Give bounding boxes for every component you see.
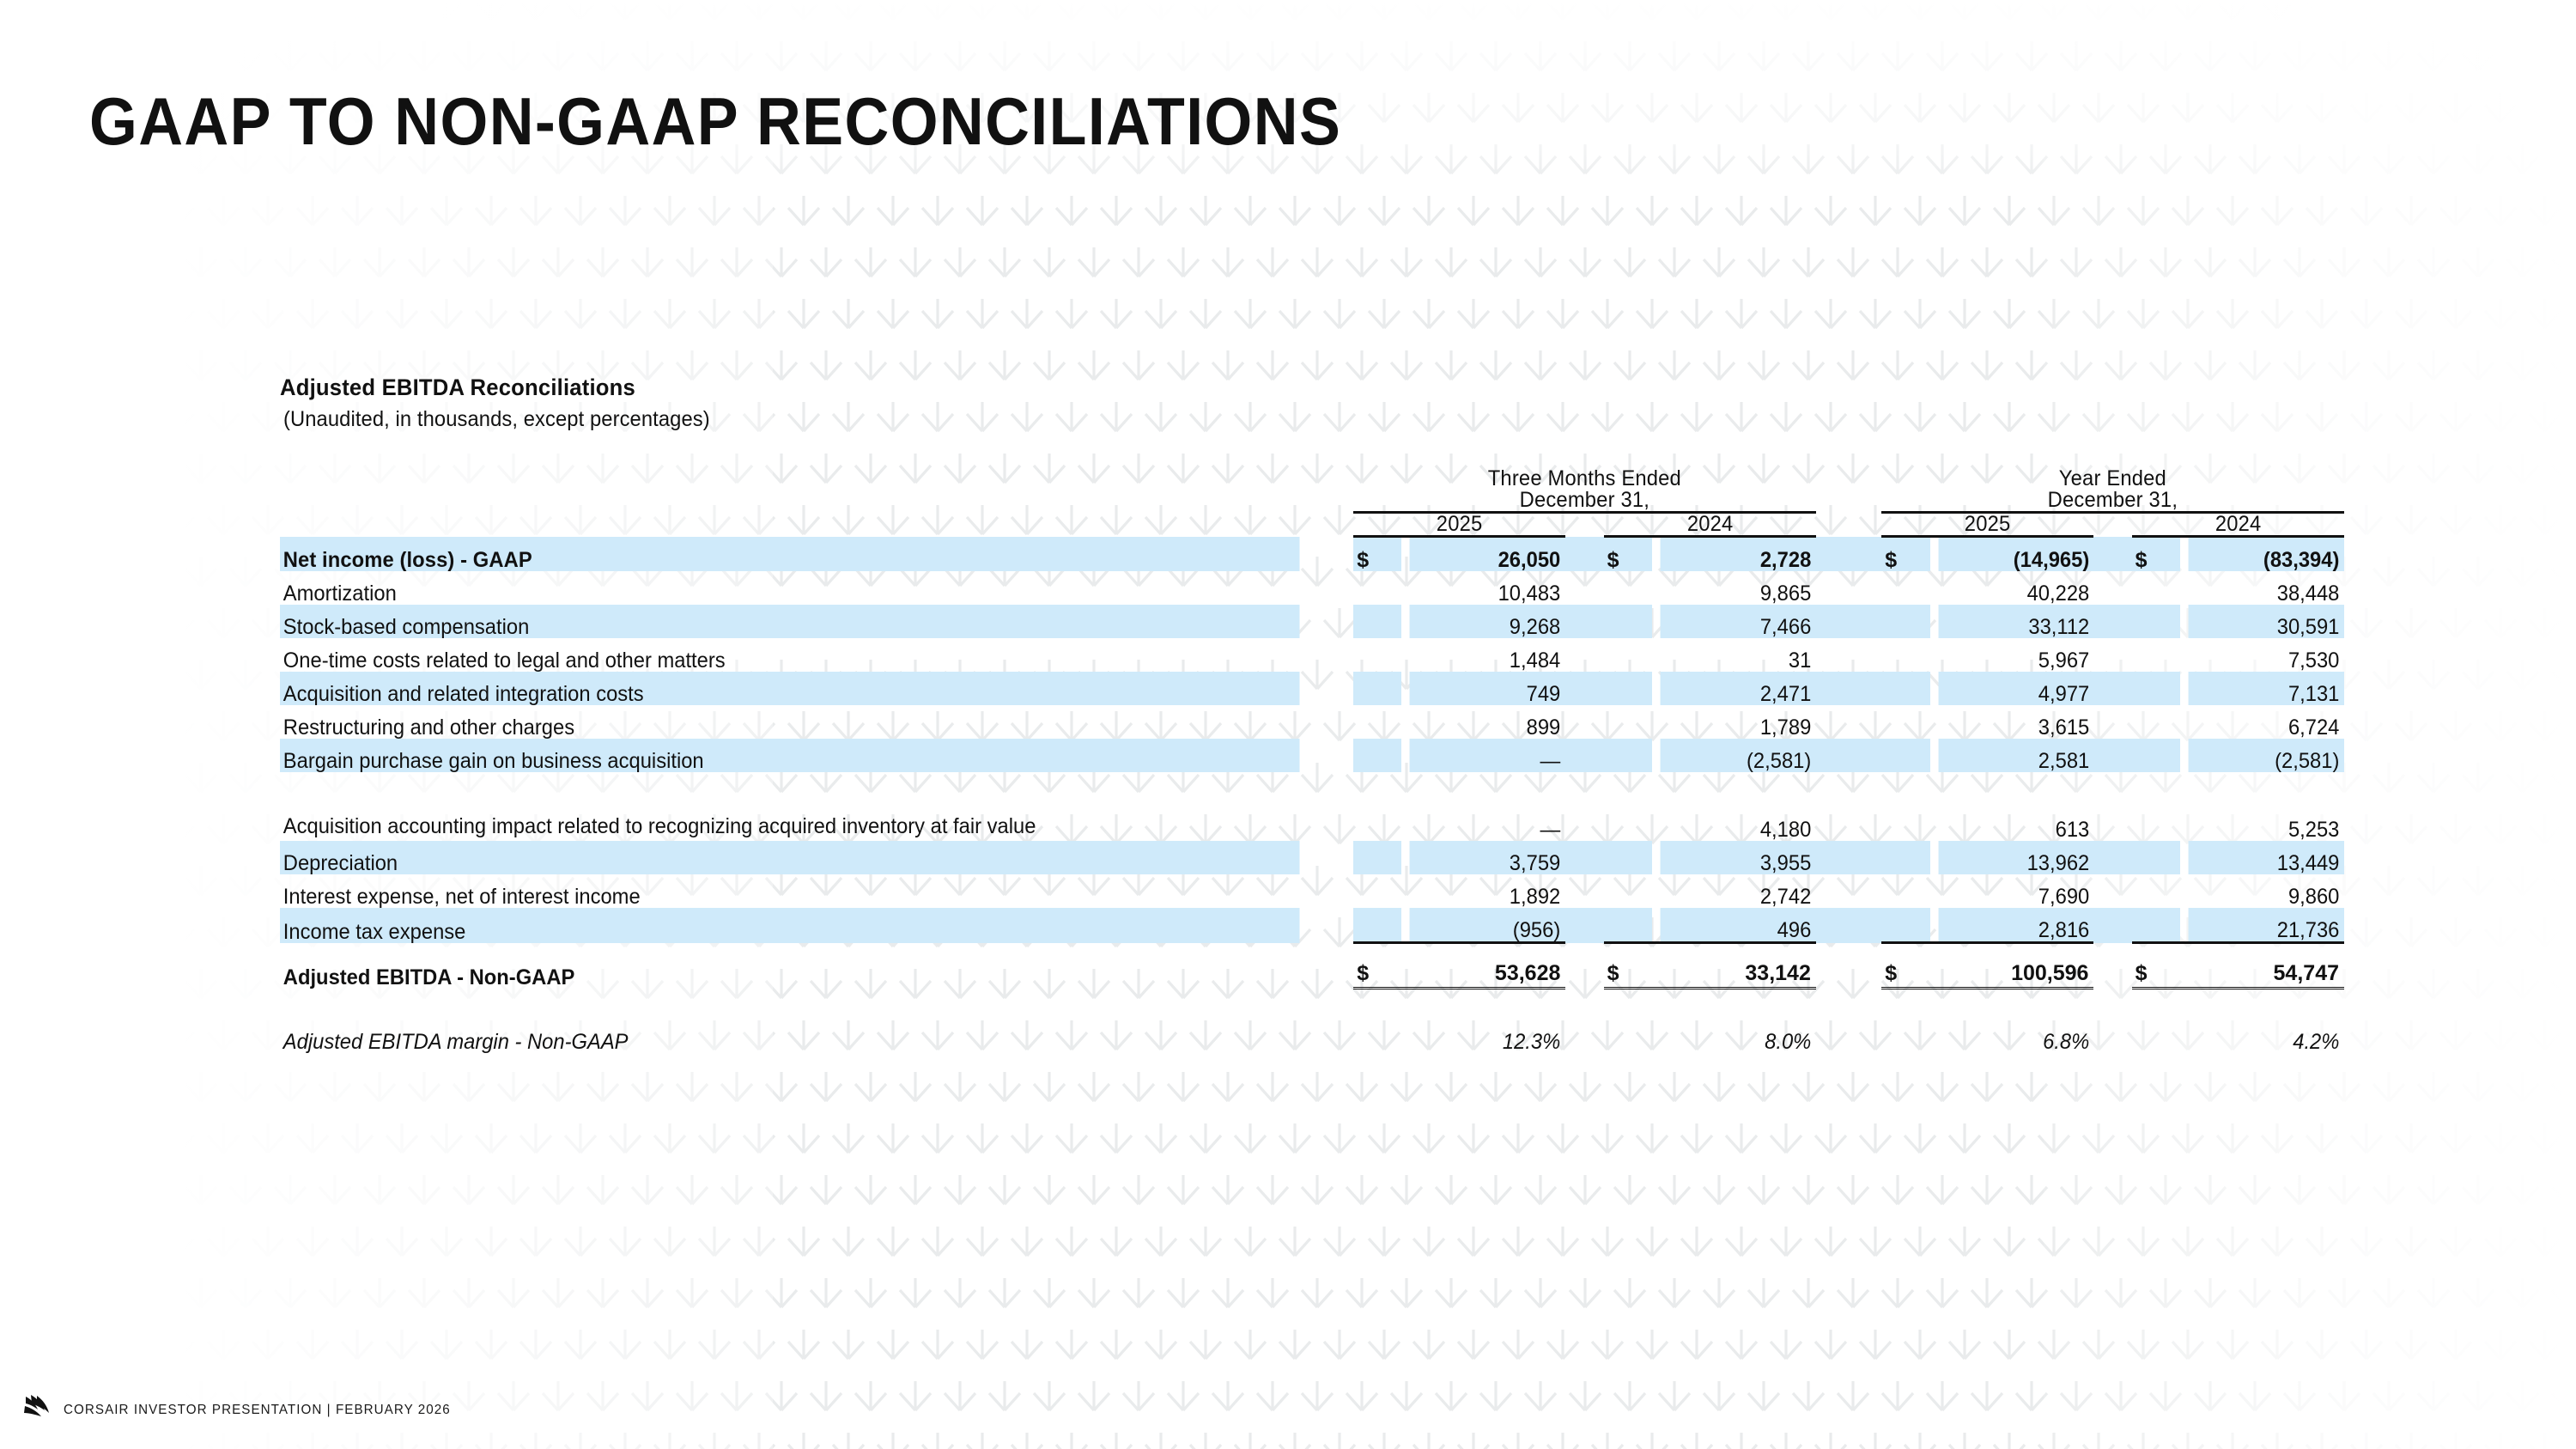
column-gap [2093, 537, 2131, 572]
col-header-q-2024: 2024 [1609, 513, 1811, 537]
table-cell-value: 33,112 [1938, 605, 2093, 638]
table-cell-value: 54,747 [2180, 943, 2344, 989]
table-row: Net income (loss) - GAAP$26,050$2,728$(1… [280, 537, 2344, 572]
column-gap [1565, 571, 1603, 605]
currency-symbol [1353, 772, 1401, 841]
currency-symbol [1604, 638, 1652, 672]
table-cell-value: 30,591 [2188, 605, 2344, 638]
table-cell-value: 749 [1410, 672, 1565, 705]
adjusted-ebitda-table: Three Months Ended Year Ended December 3… [280, 468, 2344, 1053]
table-cell-value: 6.8% [1938, 1019, 2093, 1053]
table-cell-value: 2,816 [1938, 908, 2093, 943]
currency-symbol [1881, 672, 1929, 705]
column-gap [1565, 1019, 1603, 1053]
currency-symbol: $ [2132, 943, 2180, 989]
table-cell-value: 26,050 [1410, 537, 1565, 572]
currency-symbol [1353, 672, 1401, 705]
table-cell-value: 7,131 [2188, 672, 2344, 705]
table-cell-value: 7,690 [1938, 874, 2093, 908]
footer-text: CORSAIR INVESTOR PRESENTATION | FEBRUARY… [64, 1403, 451, 1418]
group-header-three-months: Three Months Ended [1365, 468, 1805, 490]
currency-symbol [1604, 1019, 1652, 1053]
column-gap [2093, 772, 2131, 841]
column-gap [1816, 943, 1881, 989]
column-gap [1816, 537, 1881, 572]
column-gap [1565, 943, 1603, 989]
table-cell-value: 2,742 [1660, 874, 1815, 908]
currency-symbol [1604, 841, 1652, 874]
currency-symbol [1353, 638, 1401, 672]
column-gap [2093, 638, 2131, 672]
column-gap [1565, 705, 1603, 739]
currency-symbol [1353, 605, 1401, 638]
page-title: GAAP TO NON-GAAP RECONCILIATIONS [89, 82, 1341, 161]
table-cell-value: 5,967 [1938, 638, 2093, 672]
table-cell-value: 1,789 [1660, 705, 1815, 739]
table-cell-value: 9,865 [1660, 571, 1815, 605]
column-gap [2093, 874, 2131, 908]
column-gap [1565, 638, 1603, 672]
table-cell-value: 38,448 [2188, 571, 2344, 605]
currency-symbol [1604, 908, 1652, 943]
table-cell-value: 10,483 [1410, 571, 1565, 605]
column-gap [2093, 739, 2131, 772]
table-cell-value: — [1410, 772, 1565, 841]
currency-symbol [1353, 841, 1401, 874]
currency-symbol [1604, 705, 1652, 739]
table-cell-value: 13,449 [2188, 841, 2344, 874]
column-gap [1816, 739, 1881, 772]
margin-row-label: Adjusted EBITDA margin - Non-GAAP [280, 1019, 1300, 1053]
table-cell-value: 9,860 [2188, 874, 2344, 908]
col-header-q-2025: 2025 [1358, 513, 1560, 537]
column-gap [2093, 672, 2131, 705]
column-gap [1816, 772, 1881, 841]
group-header-year: Year Ended [1893, 468, 2333, 490]
row-label: Acquisition and related integration cost… [280, 672, 1300, 705]
currency-symbol [1881, 571, 1929, 605]
currency-symbol [2132, 705, 2180, 739]
currency-symbol [2132, 672, 2180, 705]
row-label: Income tax expense [280, 908, 1300, 943]
currency-symbol: $ [1604, 943, 1652, 989]
currency-symbol [1604, 772, 1652, 841]
currency-symbol: $ [1353, 537, 1401, 572]
table-cell-value: 7,530 [2188, 638, 2344, 672]
column-gap [1565, 672, 1603, 705]
table-cell-value: 496 [1660, 908, 1815, 943]
column-gap [1816, 874, 1881, 908]
table-row: Acquisition accounting impact related to… [280, 772, 2344, 841]
column-gap [2093, 908, 2131, 943]
corsair-sails-logo [22, 1395, 52, 1425]
column-gap [1816, 638, 1881, 672]
row-label: Net income (loss) - GAAP [280, 537, 1300, 572]
column-gap [1816, 1019, 1881, 1053]
column-gap [1565, 874, 1603, 908]
year-header-row: 2025 2024 2025 2024 [280, 513, 2344, 537]
table-heading: Adjusted EBITDA Reconciliations [280, 374, 2254, 401]
currency-symbol [1881, 739, 1929, 772]
slide-canvas: GAAP TO NON-GAAP RECONCILIATIONS Adjuste… [0, 0, 2576, 1449]
table-cell-value: 5,253 [2188, 772, 2344, 841]
table-cell-value: 2,728 [1660, 537, 1815, 572]
currency-symbol [1604, 605, 1652, 638]
table-cell-value: 899 [1410, 705, 1565, 739]
currency-symbol [1353, 908, 1401, 943]
column-gap [2093, 943, 2131, 989]
table-cell-value: 2,471 [1660, 672, 1815, 705]
table-cell-value: (2,581) [2188, 739, 2344, 772]
column-gap [2093, 605, 2131, 638]
currency-symbol [1604, 672, 1652, 705]
currency-symbol [2132, 605, 2180, 638]
group-header-three-months-date: December 31, [1365, 490, 1805, 513]
currency-symbol: $ [1881, 537, 1929, 572]
row-label: Bargain purchase gain on business acquis… [280, 739, 1300, 772]
row-label: Stock-based compensation [280, 605, 1300, 638]
column-gap [1816, 672, 1881, 705]
col-header-y-2025: 2025 [1886, 513, 2088, 537]
currency-symbol: $ [1353, 943, 1401, 989]
slide-footer: CORSAIR INVESTOR PRESENTATION | FEBRUARY… [22, 1395, 471, 1425]
row-label: Acquisition accounting impact related to… [280, 772, 1300, 841]
column-gap [2093, 705, 2131, 739]
table-row: Interest expense, net of interest income… [280, 874, 2344, 908]
currency-symbol [2132, 638, 2180, 672]
table-cell-value: 1,892 [1410, 874, 1565, 908]
currency-symbol [1353, 1019, 1401, 1053]
currency-symbol [1604, 874, 1652, 908]
column-gap [1565, 908, 1603, 943]
table-cell-value: — [1410, 739, 1565, 772]
currency-symbol [2132, 908, 2180, 943]
column-gap [1565, 537, 1603, 572]
table-cell-value: (83,394) [2188, 537, 2344, 572]
table-cell-value: 4,180 [1660, 772, 1815, 841]
currency-symbol [1604, 571, 1652, 605]
row-label: Depreciation [280, 841, 1300, 874]
group-header-row-2: December 31, December 31, [280, 490, 2344, 513]
column-gap [2093, 571, 2131, 605]
table-cell-value: 613 [1938, 772, 2093, 841]
column-gap [2093, 841, 2131, 874]
table-row: One-time costs related to legal and othe… [280, 638, 2344, 672]
table-cell-value: 3,615 [1938, 705, 2093, 739]
column-gap [1816, 605, 1881, 638]
column-gap [2093, 1019, 2131, 1053]
currency-symbol [1353, 739, 1401, 772]
currency-symbol [1881, 605, 1929, 638]
row-spacer [280, 989, 2344, 1020]
table-cell-value: 31 [1660, 638, 1815, 672]
currency-symbol [1881, 1019, 1929, 1053]
row-label: Restructuring and other charges [280, 705, 1300, 739]
currency-symbol [1881, 638, 1929, 672]
currency-symbol [1353, 705, 1401, 739]
currency-symbol: $ [1881, 943, 1929, 989]
currency-symbol [2132, 772, 2180, 841]
table-row: Income tax expense(956)4962,81621,736 [280, 908, 2344, 943]
column-gap [1816, 841, 1881, 874]
table-cell-value: (2,581) [1660, 739, 1815, 772]
table-cell-value: 21,736 [2188, 908, 2344, 943]
currency-symbol [1353, 874, 1401, 908]
column-gap [1565, 772, 1603, 841]
table-cell-value: 4,977 [1938, 672, 2093, 705]
currency-symbol [2132, 841, 2180, 874]
column-gap [1565, 739, 1603, 772]
currency-symbol [1881, 874, 1929, 908]
table-head: Three Months Ended Year Ended December 3… [280, 468, 2344, 537]
group-header-year-date: December 31, [1893, 490, 2333, 513]
group-header-row-1: Three Months Ended Year Ended [280, 468, 2344, 490]
table-cell-value: 13,962 [1938, 841, 2093, 874]
table-cell-value: 6,724 [2188, 705, 2344, 739]
row-label: One-time costs related to legal and othe… [280, 638, 1300, 672]
currency-symbol [2132, 874, 2180, 908]
currency-symbol [1353, 571, 1401, 605]
table-cell-value: 40,228 [1938, 571, 2093, 605]
currency-symbol [1881, 841, 1929, 874]
table-cell-value: (956) [1410, 908, 1565, 943]
table-cell-value: 3,759 [1410, 841, 1565, 874]
currency-symbol [1881, 772, 1929, 841]
column-gap [1816, 571, 1881, 605]
table-note: (Unaudited, in thousands, except percent… [283, 407, 2254, 432]
reconciliation-table-block: Adjusted EBITDA Reconciliations (Unaudit… [280, 374, 2358, 1053]
row-spacer-cell [280, 989, 2344, 1020]
column-gap [1565, 841, 1603, 874]
table-cell-value: 33,142 [1652, 943, 1816, 989]
table-row: Bargain purchase gain on business acquis… [280, 739, 2344, 772]
row-label: Amortization [280, 571, 1300, 605]
currency-symbol [2132, 571, 2180, 605]
table-row: Depreciation3,7593,95513,96213,449 [280, 841, 2344, 874]
column-gap [1816, 908, 1881, 943]
column-gap [1565, 605, 1603, 638]
table-body: Net income (loss) - GAAP$26,050$2,728$(1… [280, 537, 2344, 1054]
currency-symbol [2132, 739, 2180, 772]
table-cell-value: 53,628 [1401, 943, 1565, 989]
table-cell-value: 7,466 [1660, 605, 1815, 638]
table-cell-value: 12.3% [1410, 1019, 1565, 1053]
currency-symbol [1604, 739, 1652, 772]
col-header-y-2024: 2024 [2137, 513, 2339, 537]
column-gap [1816, 705, 1881, 739]
currency-symbol [2132, 1019, 2180, 1053]
margin-row: Adjusted EBITDA margin - Non-GAAP12.3%8.… [280, 1019, 2344, 1053]
currency-symbol: $ [1604, 537, 1652, 572]
row-label: Interest expense, net of interest income [280, 874, 1300, 908]
table-cell-value: 8.0% [1660, 1019, 1815, 1053]
total-row: Adjusted EBITDA - Non-GAAP$53,628$33,142… [280, 943, 2344, 989]
table-cell-value: 9,268 [1410, 605, 1565, 638]
table-cell-value: 4.2% [2188, 1019, 2344, 1053]
table-cell-value: 3,955 [1660, 841, 1815, 874]
table-cell-value: 100,596 [1930, 943, 2094, 989]
currency-symbol: $ [2132, 537, 2180, 572]
table-row: Stock-based compensation9,2687,46633,112… [280, 605, 2344, 638]
table-cell-value: 2,581 [1938, 739, 2093, 772]
table-row: Amortization10,4839,86540,22838,448 [280, 571, 2344, 605]
table-cell-value: (14,965) [1938, 537, 2093, 572]
total-row-label: Adjusted EBITDA - Non-GAAP [280, 943, 1300, 989]
table-row: Acquisition and related integration cost… [280, 672, 2344, 705]
table-row: Restructuring and other charges8991,7893… [280, 705, 2344, 739]
currency-symbol [1881, 705, 1929, 739]
currency-symbol [1881, 908, 1929, 943]
table-cell-value: 1,484 [1410, 638, 1565, 672]
